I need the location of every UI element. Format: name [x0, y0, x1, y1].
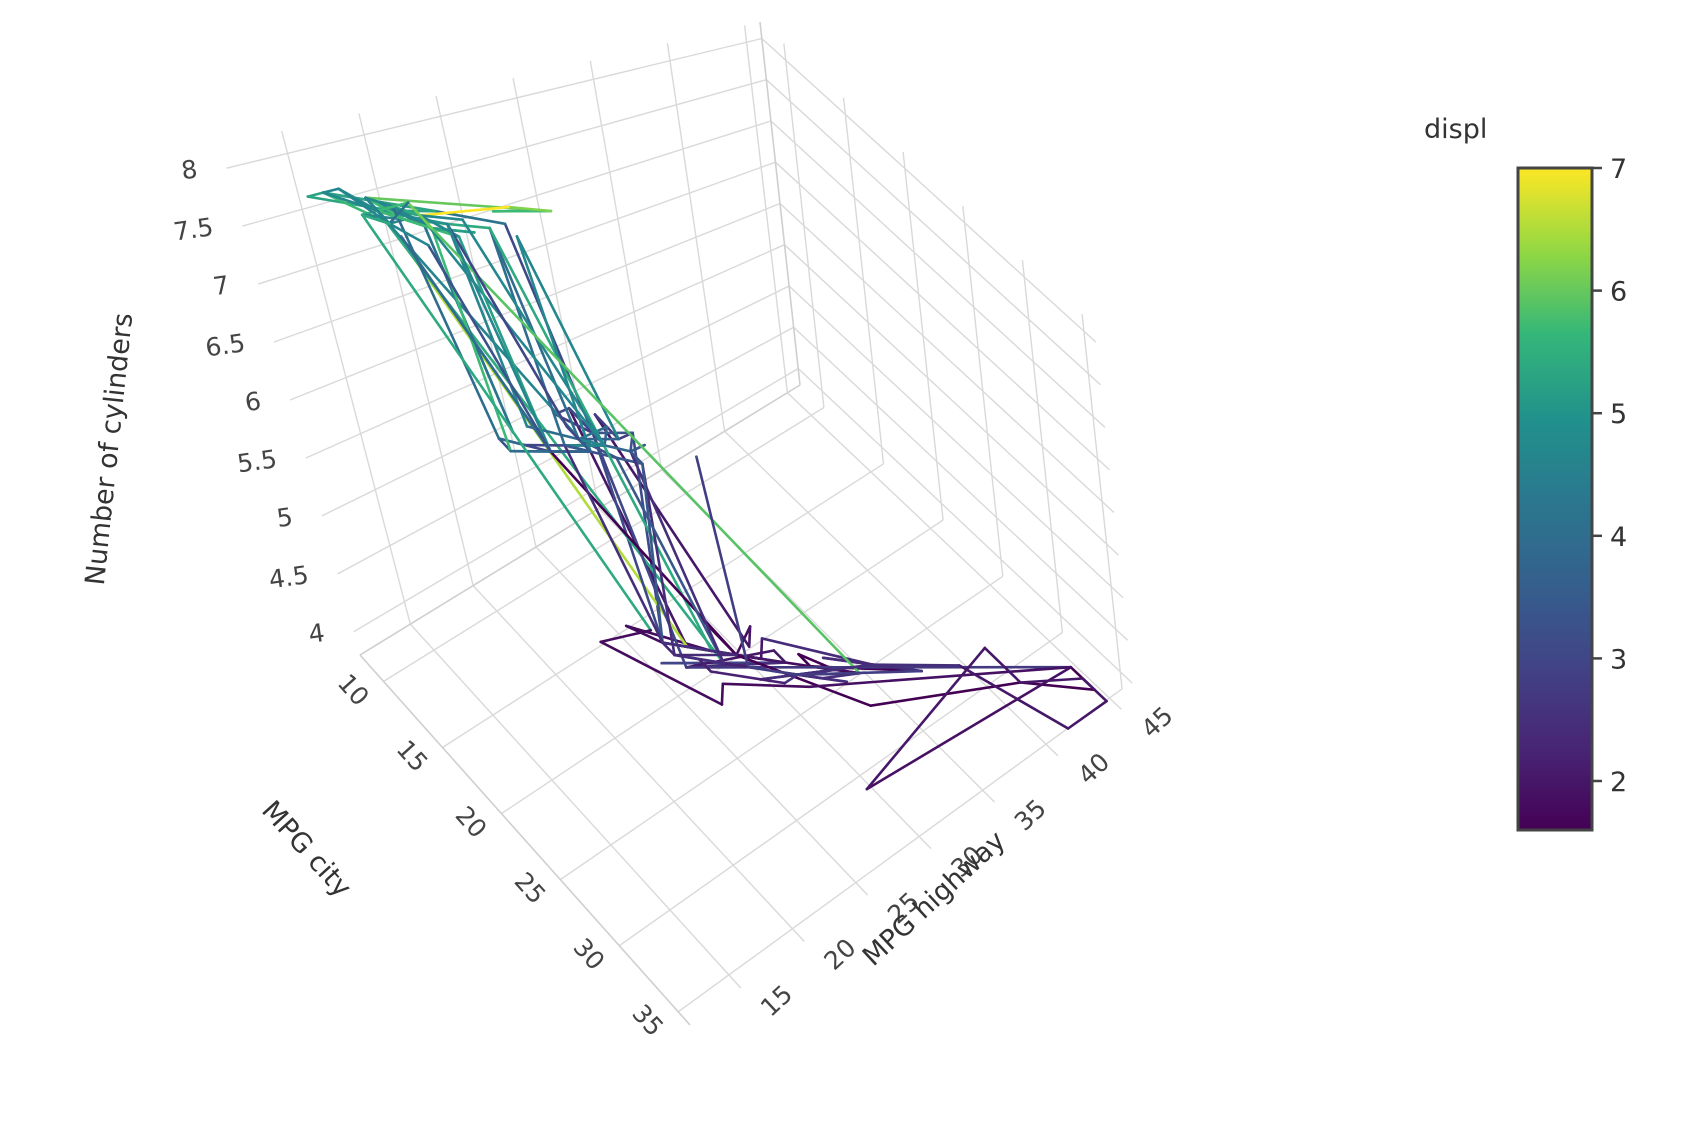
grid-floor-y: [536, 547, 868, 895]
colorbar-tick-label: 2: [1610, 767, 1627, 798]
z-tick-label: 6.5: [204, 328, 247, 362]
y-tick-label: 15: [755, 979, 798, 1022]
z-tick-label: 8: [179, 154, 199, 185]
colorbar-gradient[interactable]: [1518, 168, 1592, 830]
grid-floor-x: [678, 689, 1122, 1012]
y-tick-label: 20: [819, 933, 862, 976]
x-tick-label: 30: [568, 933, 611, 976]
data-line-segment: [420, 215, 605, 445]
grid-leftwall-z: [780, 204, 1114, 513]
data-line-segment: [601, 642, 722, 705]
grid-lines: [226, 22, 1132, 1025]
y-axis-title: MPG highway: [857, 825, 1012, 972]
data-line-segment: [1068, 701, 1107, 728]
grid-leftwall-z: [785, 245, 1119, 555]
colorbar-title: displ: [1424, 114, 1487, 145]
z-axis-title: Number of cylinders: [80, 311, 139, 586]
data-line-segment: [761, 638, 762, 658]
z-tick-label: 7.5: [172, 212, 215, 246]
y-tick-label: 40: [1072, 747, 1115, 790]
data-line-segment: [1021, 683, 1095, 690]
grid-leftwall-z: [776, 162, 1110, 470]
z-tick-label: 7: [211, 270, 231, 301]
z-tick-label: 5: [275, 502, 295, 533]
colorbar-tick-label: 6: [1610, 277, 1627, 308]
z-tick-label: 6: [243, 386, 263, 417]
data-line-segment: [867, 667, 1071, 789]
colorbar[interactable]: displ 234567: [1424, 114, 1627, 830]
data-line-segment: [723, 684, 810, 687]
grid-backwall-z: [322, 286, 789, 516]
colorbar-tick-label: 7: [1610, 154, 1627, 185]
data-line-segment: [749, 626, 750, 646]
z-tick-label: 4.5: [267, 560, 310, 594]
grid-floor-y: [725, 431, 1058, 755]
y-tick-label: 35: [1009, 794, 1052, 837]
x-tick-label: 20: [450, 801, 493, 844]
data-line-segment: [601, 630, 651, 642]
x-axis-title: MPG city: [255, 795, 357, 903]
x-tick-label: 15: [391, 734, 434, 777]
grid-floor-y: [410, 624, 740, 988]
colorbar-tick-label: 3: [1610, 644, 1627, 675]
data-line-segment: [308, 193, 323, 197]
x-tick-label: 35: [626, 999, 669, 1042]
grid-backwall-z: [258, 121, 771, 284]
grid-leftwall-z: [798, 369, 1132, 684]
colorbar-ticks: 234567: [1592, 154, 1627, 798]
grid-floor-x: [619, 633, 1062, 946]
y-tick-label: 45: [1136, 701, 1179, 744]
colorbar-tick-label: 5: [1610, 399, 1627, 430]
data-line-segment: [722, 684, 723, 705]
z-tick-label: 5.5: [235, 444, 278, 478]
axis-titles: Number of cylindersMPG cityMPG highway: [80, 311, 1012, 972]
grid-floor-edge: [360, 655, 690, 1025]
grid-leftwall-z: [794, 327, 1128, 640]
plot-figure: 44.555.566.577.5810152025303515202530354…: [0, 0, 1704, 1130]
z-tick-label: 4: [307, 618, 327, 649]
data-line-segment: [323, 189, 338, 193]
grid-backwall-z: [242, 80, 766, 226]
colorbar-tick-label: 4: [1610, 522, 1627, 553]
grid-floor-x: [560, 576, 1002, 879]
data-line-segment: [366, 198, 591, 452]
x-tick-label: 10: [332, 668, 375, 711]
x-tick-label: 25: [509, 867, 552, 910]
